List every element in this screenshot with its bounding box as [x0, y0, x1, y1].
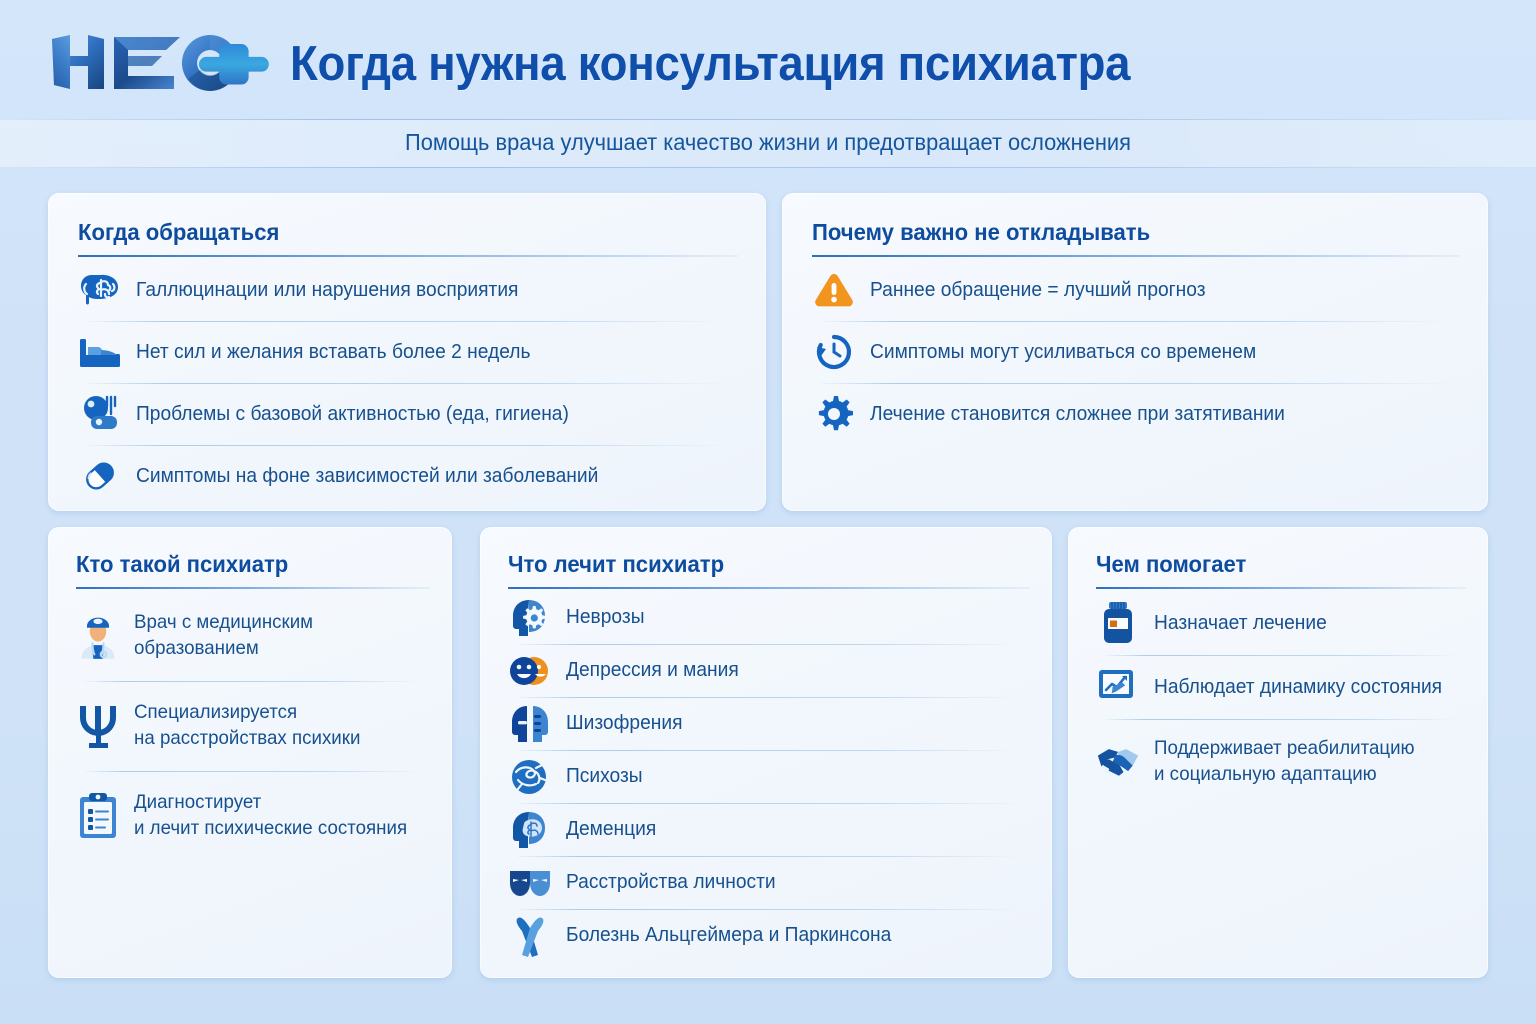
ribbon-icon: [508, 914, 552, 958]
warning-triangle-icon: [812, 268, 856, 312]
list-item-label: Раннее обращение = лучший прогноз: [870, 277, 1206, 303]
handshake-icon: [1096, 740, 1140, 784]
list-item-line-1: Диагностирует: [134, 791, 261, 813]
list-item[interactable]: Психозы: [508, 750, 1030, 803]
capsule-icon: [78, 454, 122, 498]
list-item[interactable]: Болезнь Альцгеймера и Паркинсона: [508, 909, 1030, 962]
list-item-label: Расстройства личности: [566, 869, 776, 895]
list-item[interactable]: Назначает лечение: [1096, 591, 1466, 655]
list-item-label: Врач с медицинским образованием: [134, 610, 313, 661]
card-item-list: Галлюцинации или нарушения восприятия Не…: [78, 259, 738, 507]
header-band-bottom: [0, 167, 1536, 168]
list-item[interactable]: Нет сил и желания вставать более 2 недел…: [78, 321, 738, 383]
card-divider: [812, 255, 1460, 257]
brain-icon: [78, 268, 122, 312]
meal-icon: [78, 392, 122, 436]
card-title: Почему важно не откладывать: [812, 219, 1434, 246]
list-item-label: Болезнь Альцгеймера и Паркинсона: [566, 922, 891, 948]
card-when-to-seek-help: Когда обращаться Галлю: [48, 193, 766, 511]
card-item-list: Врач с медицинским образованием Специали…: [76, 591, 430, 861]
list-item-label: Специализируется на расстройствах психик…: [134, 700, 360, 751]
list-item-line-2: на расстройствах психики: [134, 727, 360, 749]
card-item-list: Раннее обращение = лучший прогноз Симпто…: [812, 259, 1460, 445]
card-divider: [508, 587, 1030, 589]
list-item-label: Галлюцинации или нарушения восприятия: [136, 277, 518, 303]
list-item-label: Поддерживает реабилитацию и социальную а…: [1154, 736, 1415, 787]
card-how-it-helps: Чем помогает Назначает лечение: [1068, 527, 1488, 978]
list-item[interactable]: Симптомы могут усиливаться со временем: [812, 321, 1460, 383]
head-gear-icon: [508, 596, 552, 640]
list-item-line-2: образованием: [134, 637, 259, 659]
list-item[interactable]: Шизофрения: [508, 697, 1030, 750]
list-item[interactable]: Поддерживает реабилитацию и социальную а…: [1096, 719, 1466, 805]
header-band-top: [0, 119, 1536, 120]
list-item[interactable]: Деменция: [508, 803, 1030, 856]
list-item[interactable]: Неврозы: [508, 591, 1030, 644]
list-item-line-1: Специализируется: [134, 701, 297, 723]
card-what-psychiatrist-treats: Что лечит психиатр Неврозы: [480, 527, 1052, 978]
infographic-canvas: Когда нужна консультация психиатра Помощ…: [0, 0, 1536, 1024]
list-item-label: Нет сил и желания вставать более 2 недел…: [136, 339, 530, 365]
psi-icon: [76, 704, 120, 748]
card-why-not-delay: Почему важно не откладывать Раннее обращ…: [782, 193, 1488, 511]
list-item[interactable]: Лечение становится сложнее при затятиван…: [812, 383, 1460, 445]
tangled-head-icon: [508, 755, 552, 799]
page-title: Когда нужна консультация психиатра: [290, 36, 1130, 92]
list-item[interactable]: Симптомы на фоне зависимостей или заболе…: [78, 445, 738, 507]
list-item-line-1: Врач с медицинским: [134, 611, 313, 633]
chart-board-icon: [1096, 665, 1140, 709]
page-header: Когда нужна консультация психиатра: [0, 0, 1536, 118]
brand-logo: [48, 33, 276, 91]
masks-icon: [508, 861, 552, 905]
pill-bottle-icon: [1096, 601, 1140, 645]
list-item[interactable]: Раннее обращение = лучший прогноз: [812, 259, 1460, 321]
card-divider: [76, 587, 430, 589]
card-title: Кто такой психиатр: [76, 551, 416, 578]
list-item[interactable]: Депрессия и мания: [508, 644, 1030, 697]
list-item[interactable]: Наблюдает динамику состояния: [1096, 655, 1466, 719]
clipboard-icon: [76, 794, 120, 838]
card-divider: [1096, 587, 1466, 589]
list-item-label: Депрессия и мания: [566, 657, 739, 683]
doctor-icon: [76, 614, 120, 658]
list-item-line-2: и социальную адаптацию: [1154, 763, 1377, 785]
list-item-line-2: и лечит психические состояния: [134, 817, 407, 839]
list-item-label: Наблюдает динамику состояния: [1154, 674, 1442, 700]
list-item-label: Симптомы на фоне зависимостей или заболе…: [136, 463, 598, 489]
clock-icon: [812, 330, 856, 374]
list-item-label: Деменция: [566, 816, 656, 842]
list-item-line-1: Поддерживает реабилитацию: [1154, 737, 1415, 759]
list-item-label: Проблемы с базовой активностью (еда, гиг…: [136, 401, 569, 427]
head-brain-icon: [508, 808, 552, 852]
bed-icon: [78, 330, 122, 374]
card-title: Когда обращаться: [78, 219, 712, 246]
split-head-icon: [508, 702, 552, 746]
list-item[interactable]: Проблемы с базовой активностью (еда, гиг…: [78, 383, 738, 445]
card-item-list: Назначает лечение Наблюдает динамику сос…: [1096, 591, 1466, 805]
list-item-label: Психозы: [566, 763, 643, 789]
card-who-is-psychiatrist: Кто такой психиатр Врач с медици: [48, 527, 452, 978]
card-item-list: Неврозы: [508, 591, 1030, 962]
list-item-label: Назначает лечение: [1154, 610, 1327, 636]
list-item[interactable]: Расстройства личности: [508, 856, 1030, 909]
list-item[interactable]: Врач с медицинским образованием: [76, 591, 430, 681]
list-item-label: Лечение становится сложнее при затятиван…: [870, 401, 1285, 427]
card-divider: [78, 255, 738, 257]
page-subtitle: Помощь врача улучшает качество жизни и п…: [38, 129, 1497, 156]
list-item-label: Симптомы могут усиливаться со временем: [870, 339, 1256, 365]
list-item-label: Диагностирует и лечит психические состоя…: [134, 790, 407, 841]
card-title: Чем помогает: [1096, 551, 1451, 578]
list-item[interactable]: Галлюцинации или нарушения восприятия: [78, 259, 738, 321]
gear-icon: [812, 392, 856, 436]
list-item[interactable]: Специализируется на расстройствах психик…: [76, 681, 430, 771]
list-item-label: Шизофрения: [566, 710, 682, 736]
card-title: Что лечит психиатр: [508, 551, 1009, 578]
list-item-label: Неврозы: [566, 604, 644, 630]
two-faces-icon: [508, 649, 552, 693]
list-item[interactable]: Диагностирует и лечит психические состоя…: [76, 771, 430, 861]
